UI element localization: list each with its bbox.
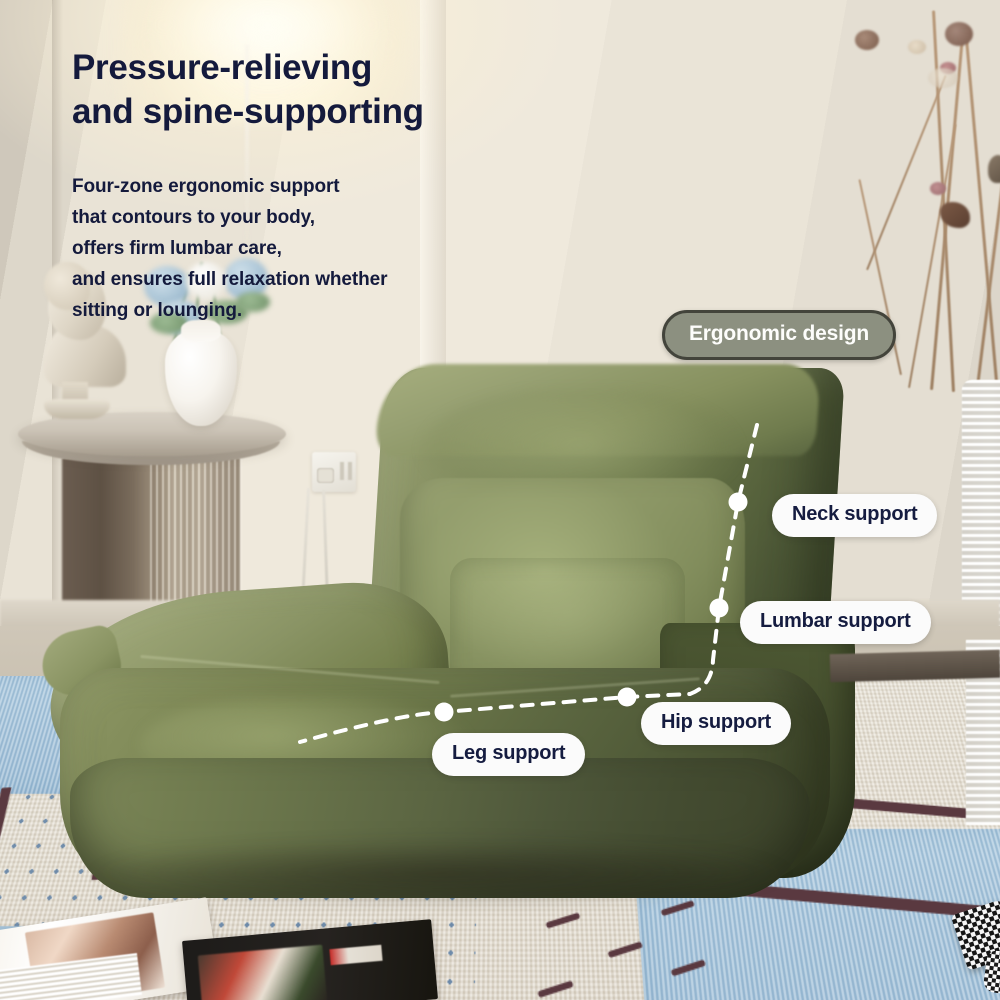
bean-bag-lounge-chair	[20, 368, 830, 888]
product-marketing-image: Pressure-relieving and spine-supporting …	[0, 0, 1000, 1000]
page-title: Pressure-relieving and spine-supporting	[72, 46, 592, 134]
callout-lumbar-support: Lumbar support	[740, 601, 931, 644]
dried-flower	[930, 182, 946, 195]
chair-floor-shadow	[90, 838, 790, 908]
headline-line-1: Pressure-relieving	[72, 46, 592, 90]
ergonomic-design-badge: Ergonomic design	[662, 310, 896, 360]
dark-furniture-edge	[830, 650, 1000, 682]
callout-hip-support: Hip support	[641, 702, 791, 745]
subcopy-line-5: sitting or lounging.	[72, 296, 592, 327]
headline-line-2: and spine-supporting	[72, 90, 592, 134]
subcopy-line-3: offers firm lumbar care,	[72, 234, 592, 265]
callout-neck-support: Neck support	[772, 494, 937, 537]
dried-flower	[908, 40, 926, 54]
dried-flower	[928, 68, 958, 88]
description-text: Four-zone ergonomic support that contour…	[72, 172, 592, 327]
subcopy-line-2: that contours to your body,	[72, 203, 592, 234]
lotus-pod	[855, 30, 879, 50]
subcopy-line-4: and ensures full relaxation whether	[72, 265, 592, 296]
subcopy-line-1: Four-zone ergonomic support	[72, 172, 592, 203]
lotus-pod	[945, 22, 973, 46]
callout-leg-support: Leg support	[432, 733, 585, 776]
lotus-pod	[988, 155, 1000, 183]
magazine-cover-image	[198, 945, 328, 1000]
